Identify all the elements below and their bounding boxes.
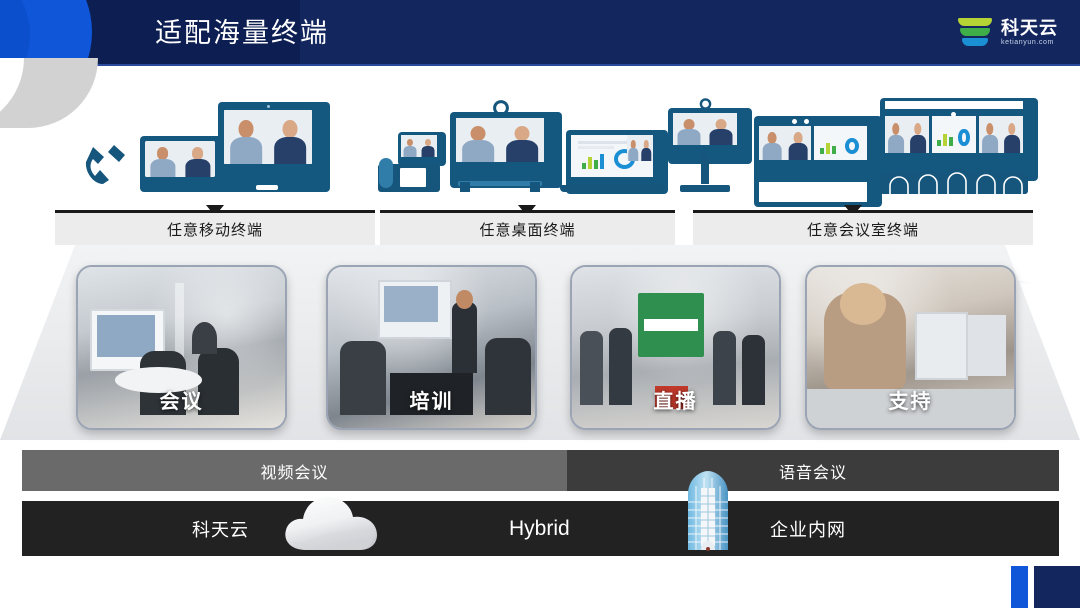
desk-handset-icon	[84, 143, 130, 190]
large-room-display-with-audience	[880, 98, 1028, 194]
deployment-onprem-label: 企业内网	[770, 501, 846, 556]
onprem-label-text: 企业内网	[770, 516, 846, 542]
hybrid-label-text: Hybrid	[509, 517, 570, 541]
scenario-label-live: 直播	[572, 385, 779, 414]
dual-screen-room-system	[754, 116, 872, 192]
logo-name-en: ketianyun.com	[1001, 38, 1058, 48]
deployment-cloud-label: 科天云	[192, 501, 249, 556]
scenario-label-support: 支持	[807, 385, 1014, 414]
ip-desk-phone-device	[378, 132, 440, 192]
office-building-icon	[684, 470, 732, 552]
scenario-card-meeting[interactable]: 会议	[76, 265, 287, 430]
brand-logo: 科天云 ketianyun.com	[958, 13, 1058, 53]
category-bar-room: 任意会议室终端	[693, 213, 1033, 245]
category-bar-desktop: 任意桌面终端	[380, 213, 675, 245]
category-bar-mobile: 任意移动终端	[55, 213, 375, 245]
category-label-room: 任意会议室终端	[807, 219, 919, 240]
laptop-device	[560, 130, 664, 192]
corner-mark-blue	[1011, 566, 1028, 608]
service-voice-conference[interactable]: 语音会议	[567, 450, 1059, 491]
desktop-monitor-device	[450, 110, 550, 192]
service-video-conference[interactable]: 视频会议	[22, 450, 567, 491]
deployment-hybrid-label: Hybrid	[509, 501, 570, 556]
category-label-mobile: 任意移动终端	[167, 219, 263, 240]
device-strip	[0, 84, 1080, 206]
corner-mark-navy	[1034, 566, 1080, 608]
stacked-bars-logo-icon	[958, 16, 992, 50]
service-label-video: 视频会议	[260, 459, 328, 483]
page-title: 适配海量终端	[155, 12, 329, 54]
standing-display-device	[668, 106, 742, 192]
scenario-card-support[interactable]: 支持	[805, 265, 1016, 430]
category-label-desktop: 任意桌面终端	[479, 219, 575, 240]
slide-canvas: 适配海量终端 科天云 ketianyun.com	[0, 0, 1080, 608]
logo-name-cn: 科天云	[1001, 19, 1058, 38]
scenario-card-training[interactable]: 培训	[326, 265, 537, 430]
header-blue-circle-icon	[0, 0, 30, 66]
service-label-voice: 语音会议	[779, 459, 847, 483]
header-underline	[0, 64, 1080, 66]
service-bar: 视频会议 语音会议	[22, 450, 1059, 491]
slide-header: 适配海量终端 科天云 ketianyun.com	[0, 0, 1080, 66]
cloud-icon	[280, 492, 388, 554]
scenario-label-training: 培训	[328, 385, 535, 414]
scenario-card-live[interactable]: 直播	[570, 265, 781, 430]
cloud-label-text: 科天云	[192, 516, 249, 542]
tablet-device	[218, 102, 330, 192]
scenario-label-meeting: 会议	[78, 385, 285, 414]
